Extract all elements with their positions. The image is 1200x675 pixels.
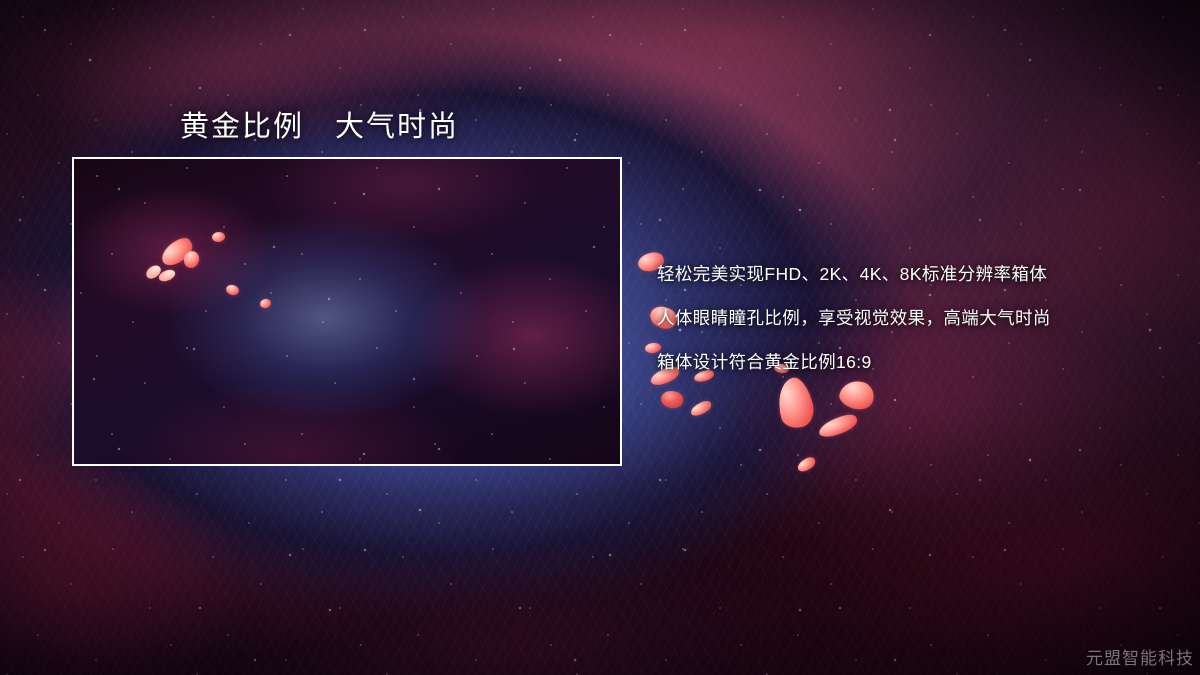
- petal-icon: [816, 412, 859, 441]
- petal-icon: [796, 455, 818, 474]
- body-text-block: 轻松完美实现FHD、2K、4K、8K标准分辨率箱体 人体眼睛瞳孔比例，享受视觉效…: [657, 252, 1051, 384]
- petal-icon: [689, 399, 714, 419]
- framed-photo: [72, 157, 622, 466]
- petal-icon: [659, 389, 684, 410]
- photo-content: [74, 159, 620, 464]
- watermark: 元盟智能科技: [1086, 644, 1194, 669]
- body-line-3: 箱体设计符合黄金比例16:9: [657, 340, 1051, 384]
- page-title: 黄金比例 大气时尚: [180, 103, 459, 145]
- body-line-1: 轻松完美实现FHD、2K、4K、8K标准分辨率箱体: [657, 252, 1051, 296]
- presentation-slide: 黄金比例 大气时尚 轻松完美实现FHD、2K、4K、8K标准分辨率箱体 人体眼睛…: [0, 0, 1200, 675]
- body-line-2: 人体眼睛瞳孔比例，享受视觉效果，高端大气时尚: [657, 296, 1051, 340]
